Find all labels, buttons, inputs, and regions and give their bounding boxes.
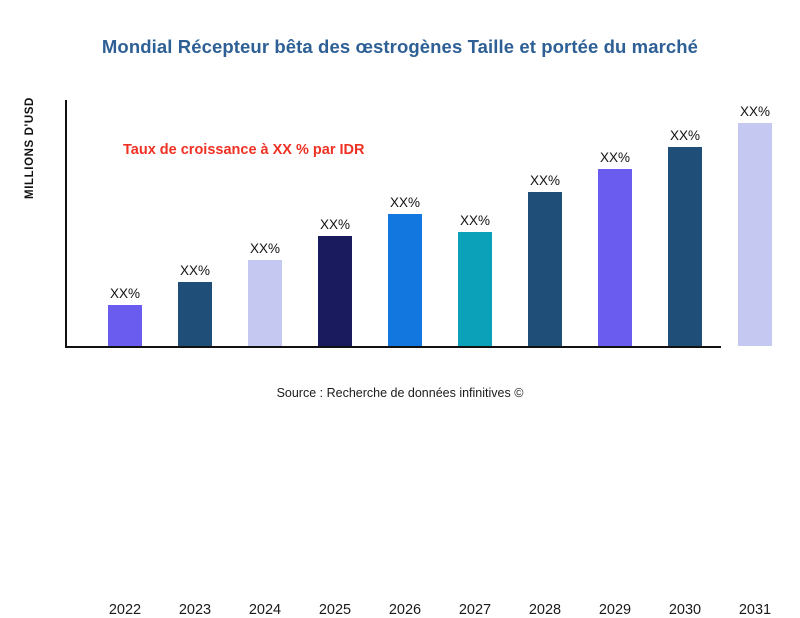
x-axis-line [65, 346, 721, 348]
bar-rect[interactable] [528, 192, 562, 346]
bar-value-label: XX% [515, 173, 575, 188]
bar-rect[interactable] [598, 169, 632, 346]
bar-value-label: XX% [95, 286, 155, 301]
bar-value-label: XX% [725, 104, 785, 119]
y-axis-label: MILLIONS D'USD [24, 58, 36, 238]
bar-value-label: XX% [445, 213, 505, 228]
bar-rect[interactable] [248, 260, 282, 346]
source-note: Source : Recherche de données infinitive… [0, 386, 800, 400]
x-tick-label-2025: 2025 [305, 602, 365, 618]
bar-rect[interactable] [318, 236, 352, 346]
x-tick-label-2023: 2023 [165, 602, 225, 618]
x-tick-label-2028: 2028 [515, 602, 575, 618]
bar-value-label: XX% [165, 263, 225, 278]
x-tick-label-2029: 2029 [585, 602, 645, 618]
x-tick-label-2022: 2022 [95, 602, 155, 618]
chart-title: Mondial Récepteur bêta des œstrogènes Ta… [0, 36, 800, 58]
bar-value-label: XX% [305, 217, 365, 232]
bar-value-label: XX% [375, 195, 435, 210]
x-tick-label-2026: 2026 [375, 602, 435, 618]
bar-rect[interactable] [388, 214, 422, 346]
growth-rate-annotation: Taux de croissance à XX % par IDR [123, 142, 365, 158]
plot-area: Taux de croissance à XX % par IDR XX% 20… [65, 100, 785, 348]
bar-rect[interactable] [108, 305, 142, 346]
y-axis-line [65, 100, 67, 348]
bar-rect[interactable] [178, 282, 212, 346]
x-tick-label-2030: 2030 [655, 602, 715, 618]
bar-value-label: XX% [585, 150, 645, 165]
x-tick-label-2027: 2027 [445, 602, 505, 618]
bar-value-label: XX% [235, 241, 295, 256]
bar-rect[interactable] [738, 123, 772, 346]
bar-rect[interactable] [668, 147, 702, 346]
chart-container: Mondial Récepteur bêta des œstrogènes Ta… [0, 0, 800, 450]
x-tick-label-2031: 2031 [725, 602, 785, 618]
bar-value-label: XX% [655, 128, 715, 143]
bar-rect[interactable] [458, 232, 492, 346]
x-tick-label-2024: 2024 [235, 602, 295, 618]
